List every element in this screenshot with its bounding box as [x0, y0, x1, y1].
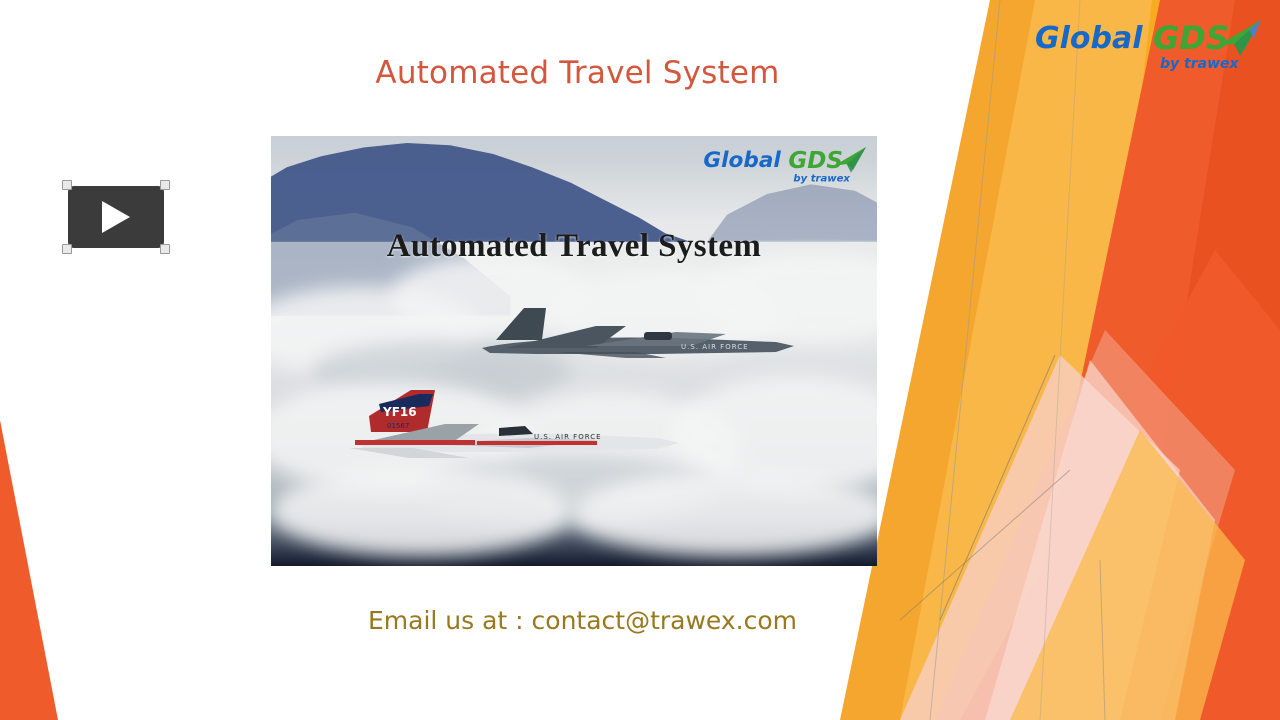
- svg-text:01567: 01567: [387, 422, 409, 430]
- play-button[interactable]: [68, 186, 164, 248]
- poster-logo-word-one: Global: [703, 148, 781, 173]
- deco-line-4: [900, 470, 1070, 620]
- svg-text:YF16: YF16: [382, 405, 417, 419]
- poster-jet-lower: YF16 01567 U.S. AIR FORCE: [349, 386, 689, 478]
- video-player[interactable]: Automated Travel System U.S. AIR FORCE Y…: [271, 136, 877, 566]
- selection-handle-top-right[interactable]: [160, 180, 170, 190]
- deco-orange-lower: [960, 250, 1280, 720]
- play-button-surface[interactable]: [68, 186, 164, 248]
- deco-pink-soft: [900, 355, 1180, 720]
- poster-logo-word-two: GDS: [788, 148, 843, 174]
- selection-handle-bottom-right[interactable]: [160, 244, 170, 254]
- svg-text:U.S. AIR FORCE: U.S. AIR FORCE: [534, 433, 602, 441]
- deco-line-5: [1100, 560, 1105, 720]
- selection-handle-top-left[interactable]: [62, 180, 72, 190]
- poster-cloud: [571, 471, 877, 556]
- deco-pink-large: [935, 330, 1235, 720]
- poster-jet-upper: U.S. AIR FORCE: [476, 296, 806, 376]
- poster-title: Automated Travel System: [271, 228, 877, 265]
- svg-text:U.S. AIR FORCE: U.S. AIR FORCE: [681, 343, 749, 351]
- poster-logo-tagline: by trawex: [793, 173, 850, 184]
- page-title: Automated Travel System: [0, 55, 1155, 91]
- poster-cloud: [271, 466, 571, 556]
- brand-logo-tagline: by trawex: [1160, 56, 1239, 72]
- selection-handle-bottom-left[interactable]: [62, 244, 72, 254]
- deco-amber-fore: [1010, 430, 1245, 720]
- brand-logo-word-one: Global: [1035, 21, 1143, 56]
- deco-pink-pale: [985, 360, 1215, 720]
- deco-line-3: [940, 355, 1055, 620]
- contact-email-text: Email us at : contact@trawex.com: [0, 606, 1165, 635]
- slide-canvas: Global GDS by trawex Automated Travel Sy…: [0, 0, 1280, 720]
- play-triangle-icon: [102, 201, 130, 233]
- brand-logo-word-two: GDS: [1153, 19, 1229, 57]
- deco-left-wedge: [0, 420, 58, 720]
- poster-brand-logo: Global GDS by trawex: [703, 144, 869, 186]
- video-poster-image: Automated Travel System U.S. AIR FORCE Y…: [271, 136, 877, 566]
